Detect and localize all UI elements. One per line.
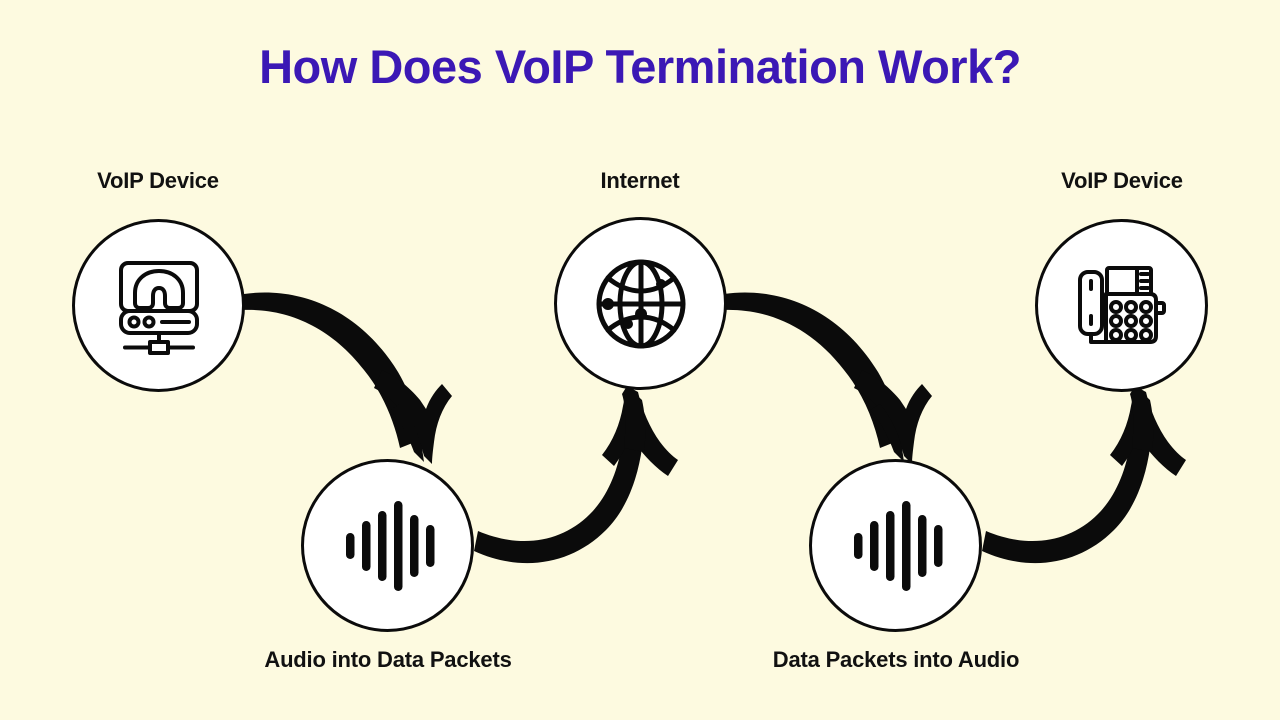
node-audio-into-data-packets[interactable]: [301, 459, 474, 632]
arrow-voip-device-left-to-audio-packets: [242, 293, 452, 464]
voip-gateway-icon: [104, 251, 214, 361]
node-label-voip-device-left: VoIP Device: [8, 170, 308, 192]
arrow-audio-packets-to-internet: [474, 386, 678, 563]
arrow-packets-audio-to-voip-device-right: [982, 386, 1186, 563]
audio-waveform-icon: [841, 491, 951, 601]
node-voip-device-left[interactable]: [72, 219, 245, 392]
globe-icon: [585, 248, 697, 360]
page-title: How Does VoIP Termination Work?: [0, 40, 1280, 94]
node-label-internet: Internet: [490, 170, 790, 192]
node-internet[interactable]: [554, 217, 727, 390]
node-label-audio-into-data-packets: Audio into Data Packets: [238, 649, 538, 671]
desk-phone-icon: [1066, 250, 1178, 362]
diagram-canvas: How Does VoIP Termination Work? VoIP: [0, 0, 1280, 720]
arrow-internet-to-packets-audio: [722, 293, 932, 464]
audio-waveform-icon: [333, 491, 443, 601]
node-voip-device-right[interactable]: [1035, 219, 1208, 392]
node-data-packets-into-audio[interactable]: [809, 459, 982, 632]
node-label-voip-device-right: VoIP Device: [972, 170, 1272, 192]
node-label-data-packets-into-audio: Data Packets into Audio: [746, 649, 1046, 671]
